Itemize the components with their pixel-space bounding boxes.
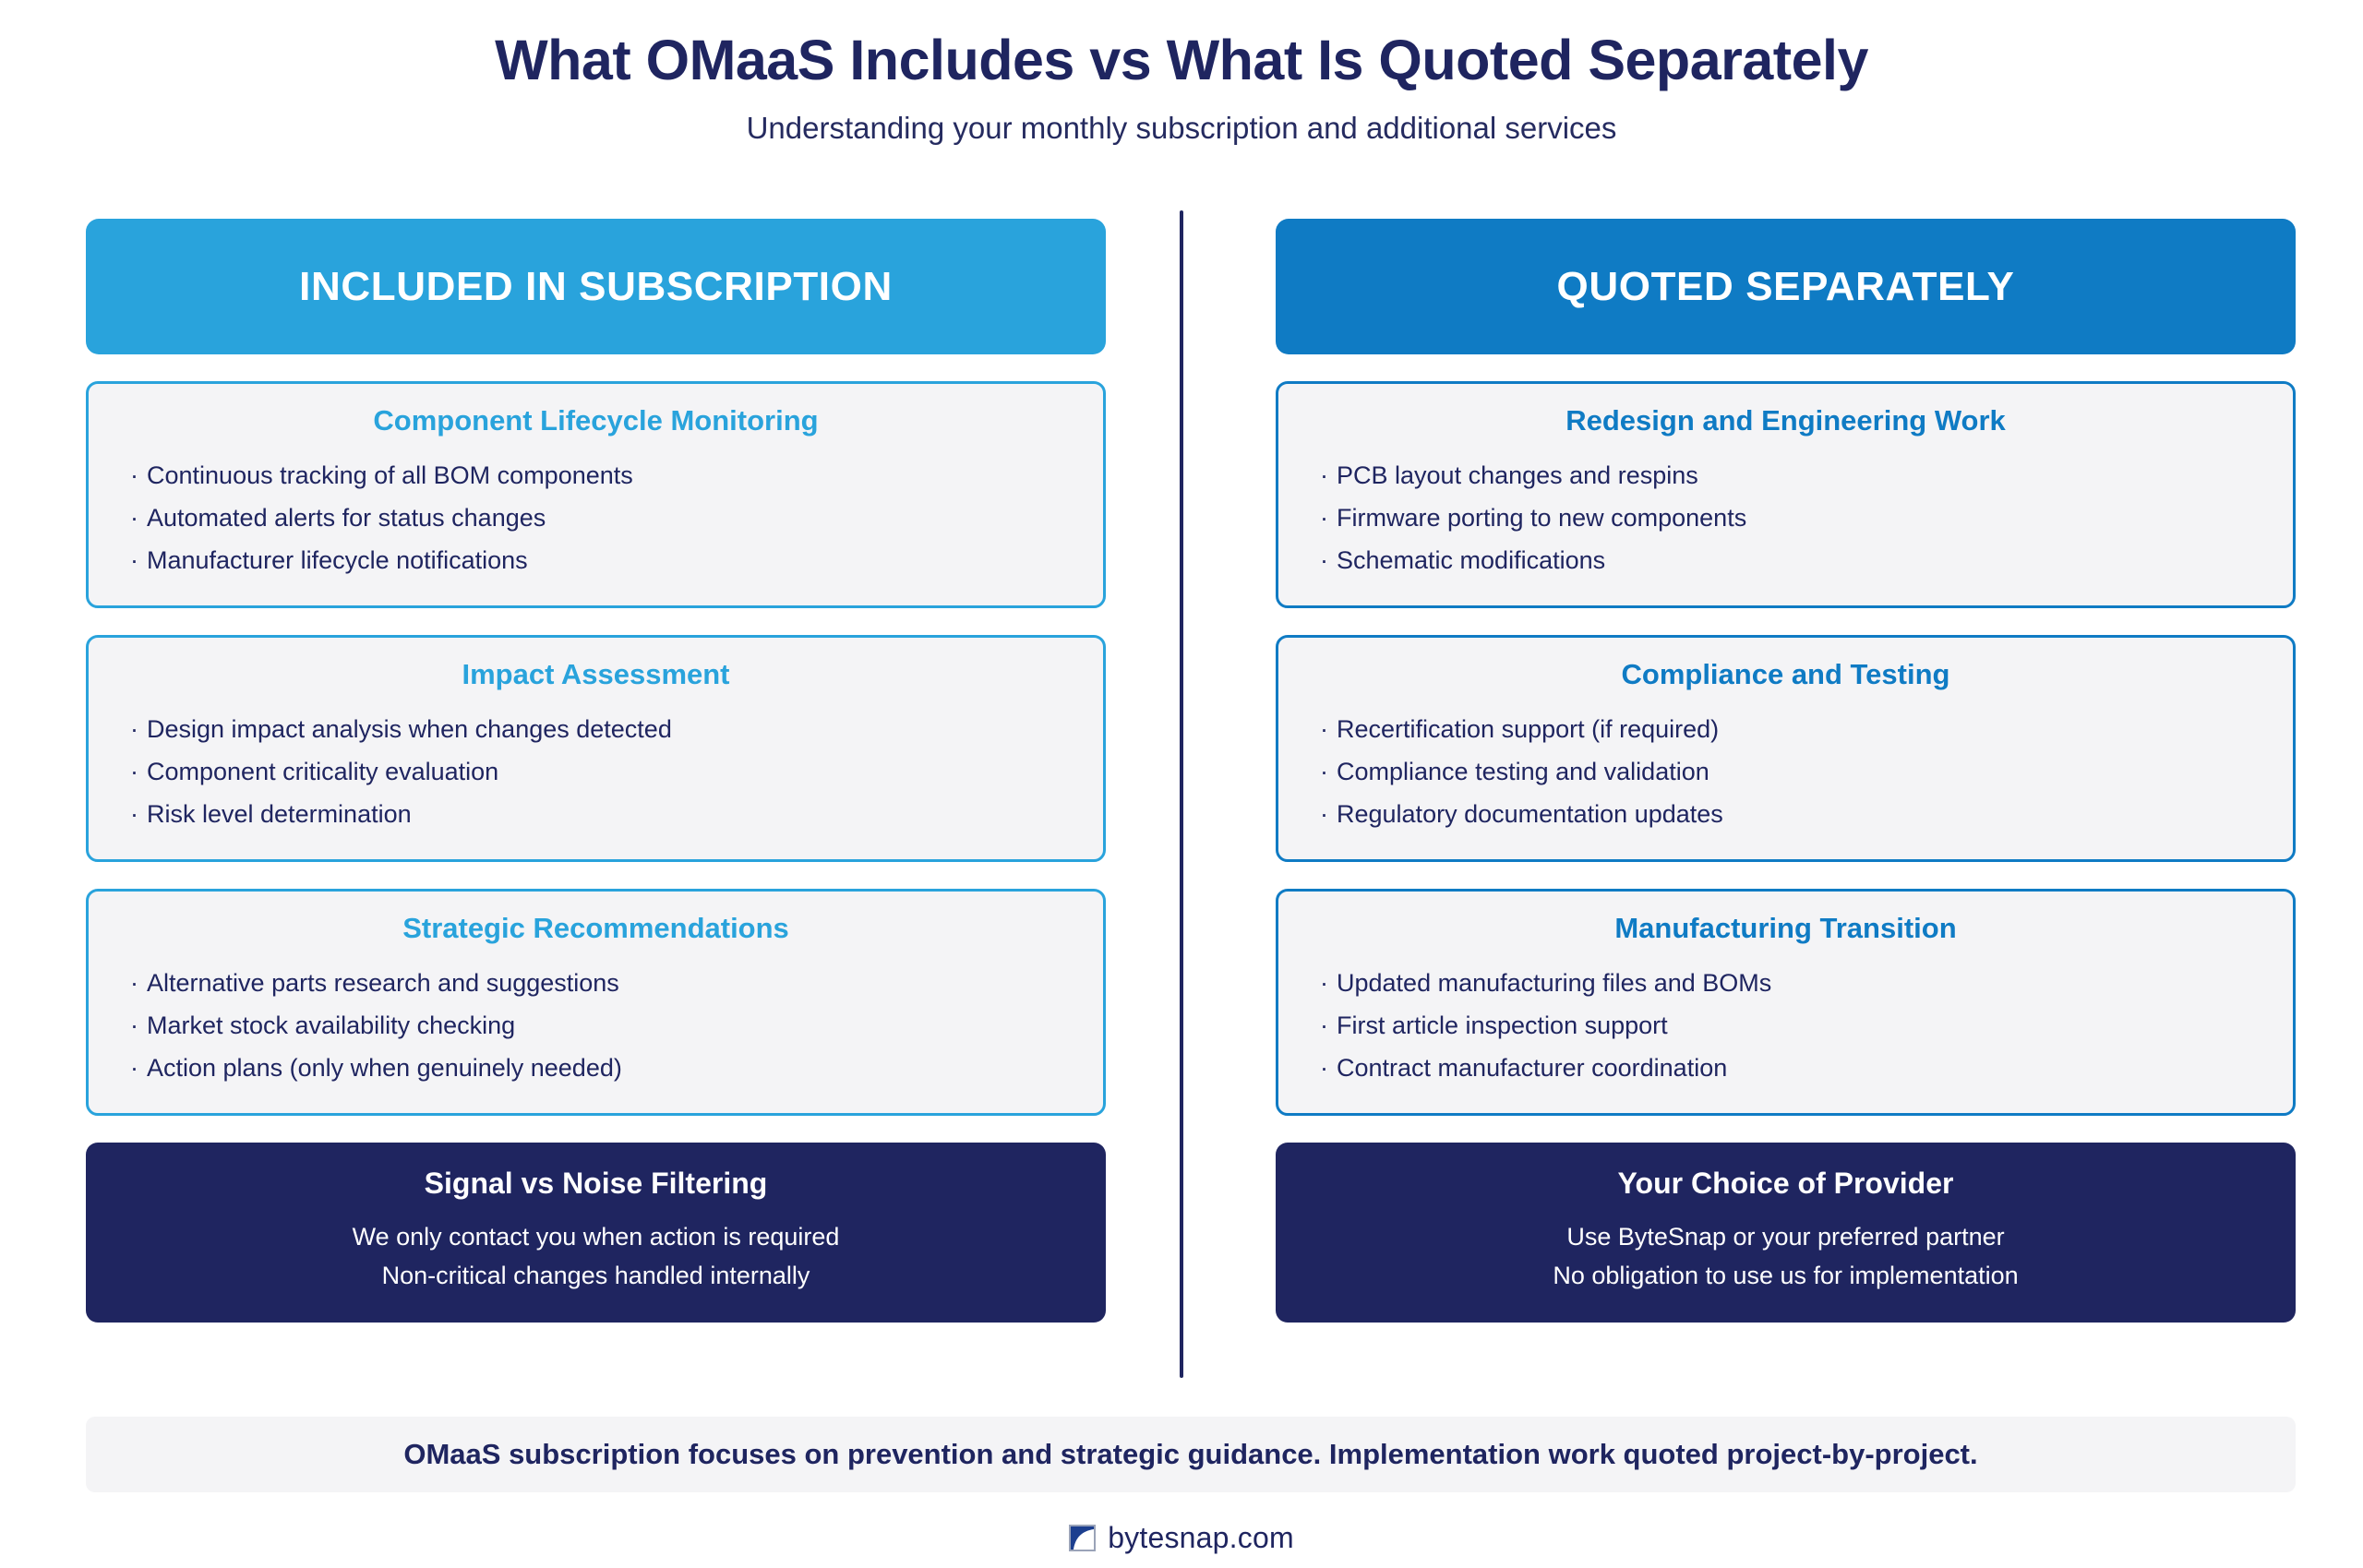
list-item-label: Schematic modifications (1337, 546, 1605, 574)
card-title: Impact Assessment (130, 658, 1062, 691)
bullet-dot-icon: · (1320, 497, 1337, 539)
list-item: ·Contract manufacturer coordination (1320, 1047, 2251, 1089)
bullet-dot-icon: · (1320, 539, 1337, 581)
highlight-card: Signal vs Noise Filtering We only contac… (86, 1143, 1106, 1323)
bytesnap-logo-icon (1069, 1525, 1096, 1551)
list-item-label: Recertification support (if required) (1337, 715, 1719, 743)
list-item-label: Manufacturer lifecycle notifications (147, 546, 528, 574)
bullet-dot-icon: · (130, 454, 147, 497)
list-item-label: Automated alerts for status changes (147, 504, 546, 532)
infographic-page: What OMaaS Includes vs What Is Quoted Se… (0, 0, 2363, 1568)
list-item-label: First article inspection support (1337, 1011, 1668, 1039)
list-item: ·Compliance testing and validation (1320, 750, 2251, 793)
card-title: Redesign and Engineering Work (1320, 404, 2251, 437)
highlight-card-title: Your Choice of Provider (1313, 1167, 2259, 1201)
list-item-label: Risk level determination (147, 800, 412, 828)
column-quoted: QUOTED SEPARATELY Redesign and Engineeri… (1276, 219, 2296, 1323)
highlight-card-line: Use ByteSnap or your preferred partner (1313, 1217, 2259, 1256)
bullet-dot-icon: · (130, 962, 147, 1004)
feature-card: Compliance and Testing ·Recertification … (1276, 635, 2296, 862)
card-title: Compliance and Testing (1320, 658, 2251, 691)
bullet-dot-icon: · (1320, 962, 1337, 1004)
card-bullet-list: ·Design impact analysis when changes det… (130, 708, 1062, 835)
column-header-quoted: QUOTED SEPARATELY (1276, 219, 2296, 354)
page-subtitle: Understanding your monthly subscription … (0, 111, 2363, 146)
bullet-dot-icon: · (130, 539, 147, 581)
list-item-label: Component criticality evaluation (147, 758, 498, 785)
bullet-dot-icon: · (1320, 1004, 1337, 1047)
list-item: ·Action plans (only when genuinely neede… (130, 1047, 1062, 1089)
list-item: ·Recertification support (if required) (1320, 708, 2251, 750)
highlight-card: Your Choice of Provider Use ByteSnap or … (1276, 1143, 2296, 1323)
bullet-dot-icon: · (1320, 1047, 1337, 1089)
bullet-dot-icon: · (1320, 750, 1337, 793)
bullet-dot-icon: · (130, 750, 147, 793)
footer-banner: OMaaS subscription focuses on prevention… (86, 1417, 2296, 1492)
card-title: Component Lifecycle Monitoring (130, 404, 1062, 437)
list-item: ·Market stock availability checking (130, 1004, 1062, 1047)
brand-footer: bytesnap.com (0, 1521, 2363, 1555)
list-item-label: Firmware porting to new components (1337, 504, 1746, 532)
card-title: Manufacturing Transition (1320, 912, 2251, 945)
feature-card: Component Lifecycle Monitoring ·Continuo… (86, 381, 1106, 608)
feature-card: Redesign and Engineering Work ·PCB layou… (1276, 381, 2296, 608)
bullet-dot-icon: · (130, 708, 147, 750)
brand-name: bytesnap.com (1108, 1521, 1294, 1555)
list-item-label: Design impact analysis when changes dete… (147, 715, 672, 743)
bullet-dot-icon: · (1320, 454, 1337, 497)
list-item: ·Alternative parts research and suggesti… (130, 962, 1062, 1004)
list-item-label: Market stock availability checking (147, 1011, 515, 1039)
list-item: ·Continuous tracking of all BOM componen… (130, 454, 1062, 497)
list-item: ·Schematic modifications (1320, 539, 2251, 581)
highlight-card-title: Signal vs Noise Filtering (123, 1167, 1069, 1201)
feature-card: Manufacturing Transition ·Updated manufa… (1276, 889, 2296, 1116)
list-item: ·Automated alerts for status changes (130, 497, 1062, 539)
list-item-label: Action plans (only when genuinely needed… (147, 1054, 622, 1082)
list-item: ·First article inspection support (1320, 1004, 2251, 1047)
list-item: ·Risk level determination (130, 793, 1062, 835)
bullet-dot-icon: · (130, 793, 147, 835)
card-bullet-list: ·Alternative parts research and suggesti… (130, 962, 1062, 1089)
feature-card: Strategic Recommendations ·Alternative p… (86, 889, 1106, 1116)
list-item-label: Updated manufacturing files and BOMs (1337, 969, 1771, 997)
list-item: ·Design impact analysis when changes det… (130, 708, 1062, 750)
column-header-included: INCLUDED IN SUBSCRIPTION (86, 219, 1106, 354)
card-bullet-list: ·Updated manufacturing files and BOMs ·F… (1320, 962, 2251, 1089)
list-item: ·Component criticality evaluation (130, 750, 1062, 793)
bullet-dot-icon: · (130, 1004, 147, 1047)
column-included: INCLUDED IN SUBSCRIPTION Component Lifec… (86, 219, 1106, 1323)
card-bullet-list: ·Continuous tracking of all BOM componen… (130, 454, 1062, 581)
highlight-card-line: Non-critical changes handled internally (123, 1256, 1069, 1295)
list-item-label: PCB layout changes and respins (1337, 461, 1698, 489)
list-item: ·Firmware porting to new components (1320, 497, 2251, 539)
list-item: ·Manufacturer lifecycle notifications (130, 539, 1062, 581)
card-bullet-list: ·Recertification support (if required) ·… (1320, 708, 2251, 835)
list-item-label: Alternative parts research and suggestio… (147, 969, 619, 997)
bullet-dot-icon: · (130, 497, 147, 539)
list-item: ·PCB layout changes and respins (1320, 454, 2251, 497)
list-item: ·Updated manufacturing files and BOMs (1320, 962, 2251, 1004)
list-item: ·Regulatory documentation updates (1320, 793, 2251, 835)
highlight-card-line: We only contact you when action is requi… (123, 1217, 1069, 1256)
bullet-dot-icon: · (130, 1047, 147, 1089)
bullet-dot-icon: · (1320, 708, 1337, 750)
card-title: Strategic Recommendations (130, 912, 1062, 945)
feature-card: Impact Assessment ·Design impact analysi… (86, 635, 1106, 862)
column-divider (1180, 210, 1183, 1378)
list-item-label: Compliance testing and validation (1337, 758, 1709, 785)
list-item-label: Continuous tracking of all BOM component… (147, 461, 633, 489)
list-item-label: Contract manufacturer coordination (1337, 1054, 1727, 1082)
bullet-dot-icon: · (1320, 793, 1337, 835)
list-item-label: Regulatory documentation updates (1337, 800, 1723, 828)
footer-banner-text: OMaaS subscription focuses on prevention… (403, 1438, 1977, 1471)
page-title: What OMaaS Includes vs What Is Quoted Se… (0, 28, 2363, 92)
highlight-card-line: No obligation to use us for implementati… (1313, 1256, 2259, 1295)
card-bullet-list: ·PCB layout changes and respins ·Firmwar… (1320, 454, 2251, 581)
